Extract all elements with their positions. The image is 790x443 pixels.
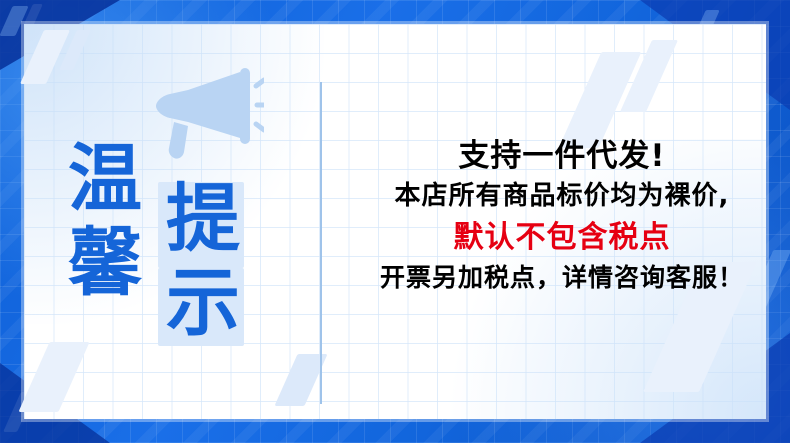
- message-line-4: 开票另加税点，详情咨询客服！: [342, 259, 782, 297]
- headline-characters: 温 馨 提 示: [66, 134, 306, 384]
- headline-char-1: 温: [68, 142, 142, 216]
- promo-banner: 温 馨 提 示 支持一件代发! 本店所有商品标价均为裸价, 默认不包含税点 开票…: [0, 0, 790, 443]
- headline-char-3: 提: [166, 182, 240, 256]
- message-line-2: 本店所有商品标价均为裸价,: [342, 178, 782, 216]
- content-panel: 温 馨 提 示 支持一件代发! 本店所有商品标价均为裸价, 默认不包含税点 开票…: [24, 24, 766, 419]
- message-block: 支持一件代发! 本店所有商品标价均为裸价, 默认不包含税点 开票另加税点，详情咨…: [342, 136, 782, 297]
- headline-char-2: 馨: [68, 226, 142, 300]
- vertical-divider: [320, 82, 322, 404]
- headline-char-4: 示: [166, 266, 240, 340]
- message-line-1: 支持一件代发!: [342, 136, 782, 178]
- message-line-3-warning: 默认不包含税点: [342, 216, 782, 260]
